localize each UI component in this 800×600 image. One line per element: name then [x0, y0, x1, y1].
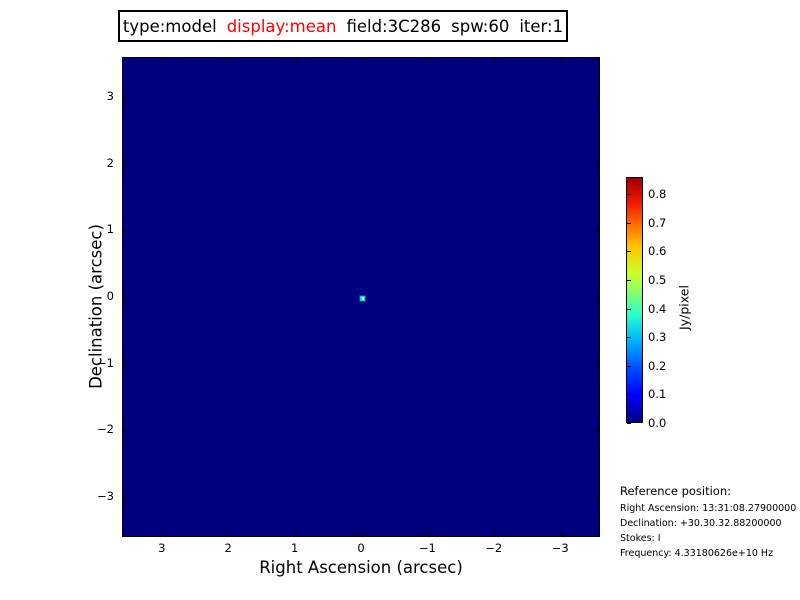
x-tick-label: −3	[552, 541, 569, 555]
x-tick-mark	[362, 58, 363, 63]
x-tick-label: 2	[225, 541, 232, 555]
x-tick-mark	[296, 58, 297, 63]
colorbar-tick-mark	[627, 194, 631, 195]
y-tick-mark	[123, 231, 128, 232]
x-tick-mark	[229, 531, 230, 536]
colorbar-tick-label: 0.4	[648, 302, 666, 316]
point-source-marker	[360, 296, 365, 301]
x-axis-label: Right Ascension (arcsec)	[122, 558, 600, 577]
colorbar-tick-mark	[627, 280, 631, 281]
title-segment-display: display:mean	[227, 17, 337, 36]
x-tick-mark	[561, 58, 562, 63]
title-segment-type: type:model	[123, 17, 217, 36]
colorbar-tick-mark	[627, 337, 631, 338]
x-tick-mark	[561, 531, 562, 536]
colorbar-tick-label: 0.7	[648, 216, 666, 230]
colorbar-tick-label: 0.0	[648, 416, 666, 430]
x-tick-mark	[229, 58, 230, 63]
colorbar	[626, 177, 643, 423]
colorbar-tick-label: 0.3	[648, 330, 666, 344]
reference-stokes: Stokes: I	[620, 533, 800, 544]
colorbar-tick-label: 0.5	[648, 273, 666, 287]
x-tick-mark	[428, 58, 429, 63]
x-tick-label: 3	[158, 541, 165, 555]
y-tick-mark	[594, 298, 599, 299]
reference-position-block: Reference position: Right Ascension: 13:…	[620, 484, 800, 563]
colorbar-tick-mark	[627, 223, 631, 224]
colorbar-tick-label: 0.1	[648, 387, 666, 401]
colorbar-unit-label: Jy/pixel	[677, 258, 692, 358]
y-tick-mark	[594, 98, 599, 99]
y-tick-mark	[123, 298, 128, 299]
x-tick-mark	[428, 531, 429, 536]
plot-title-bar: type:model display:mean field:3C286 spw:…	[118, 10, 568, 42]
y-axis-label: Declination (arcsec)	[87, 67, 106, 547]
point-source-peak-pixel	[362, 297, 364, 300]
x-tick-mark	[296, 531, 297, 536]
title-segment-spw: spw:60	[451, 17, 509, 36]
x-tick-mark	[163, 531, 164, 536]
colorbar-tick-mark	[627, 309, 631, 310]
x-tick-label: −2	[485, 541, 502, 555]
x-tick-label: 0	[357, 541, 364, 555]
x-tick-mark	[362, 531, 363, 536]
colorbar-tick-label: 0.6	[648, 244, 666, 258]
colorbar-tick-mark	[627, 394, 631, 395]
x-tick-mark	[163, 58, 164, 63]
reference-position-heading: Reference position:	[620, 484, 800, 498]
sky-image-plot	[122, 57, 600, 537]
reference-frequency: Frequency: 4.33180626e+10 Hz	[620, 548, 800, 559]
y-tick-mark	[594, 231, 599, 232]
x-tick-mark	[495, 531, 496, 536]
title-segment-iter: iter:1	[519, 17, 563, 36]
x-tick-label: −1	[419, 541, 436, 555]
title-segment-field: field:3C286	[346, 17, 441, 36]
y-tick-mark	[594, 498, 599, 499]
y-tick-mark	[123, 498, 128, 499]
y-tick-mark	[594, 365, 599, 366]
y-tick-mark	[123, 365, 128, 366]
y-tick-mark	[123, 431, 128, 432]
y-tick-mark	[123, 165, 128, 166]
reference-declination: Declination: +30.30.32.88200000	[620, 518, 800, 529]
colorbar-tick-label: 0.2	[648, 359, 666, 373]
y-tick-mark	[594, 165, 599, 166]
y-tick-mark	[594, 431, 599, 432]
colorbar-tick-mark	[627, 251, 631, 252]
colorbar-tick-mark	[627, 366, 631, 367]
colorbar-tick-mark	[627, 423, 631, 424]
colorbar-tick-label: 0.8	[648, 187, 666, 201]
reference-right-ascension: Right Ascension: 13:31:08.27900000	[620, 503, 800, 514]
x-tick-label: 1	[291, 541, 298, 555]
x-tick-mark	[495, 58, 496, 63]
y-tick-mark	[123, 98, 128, 99]
